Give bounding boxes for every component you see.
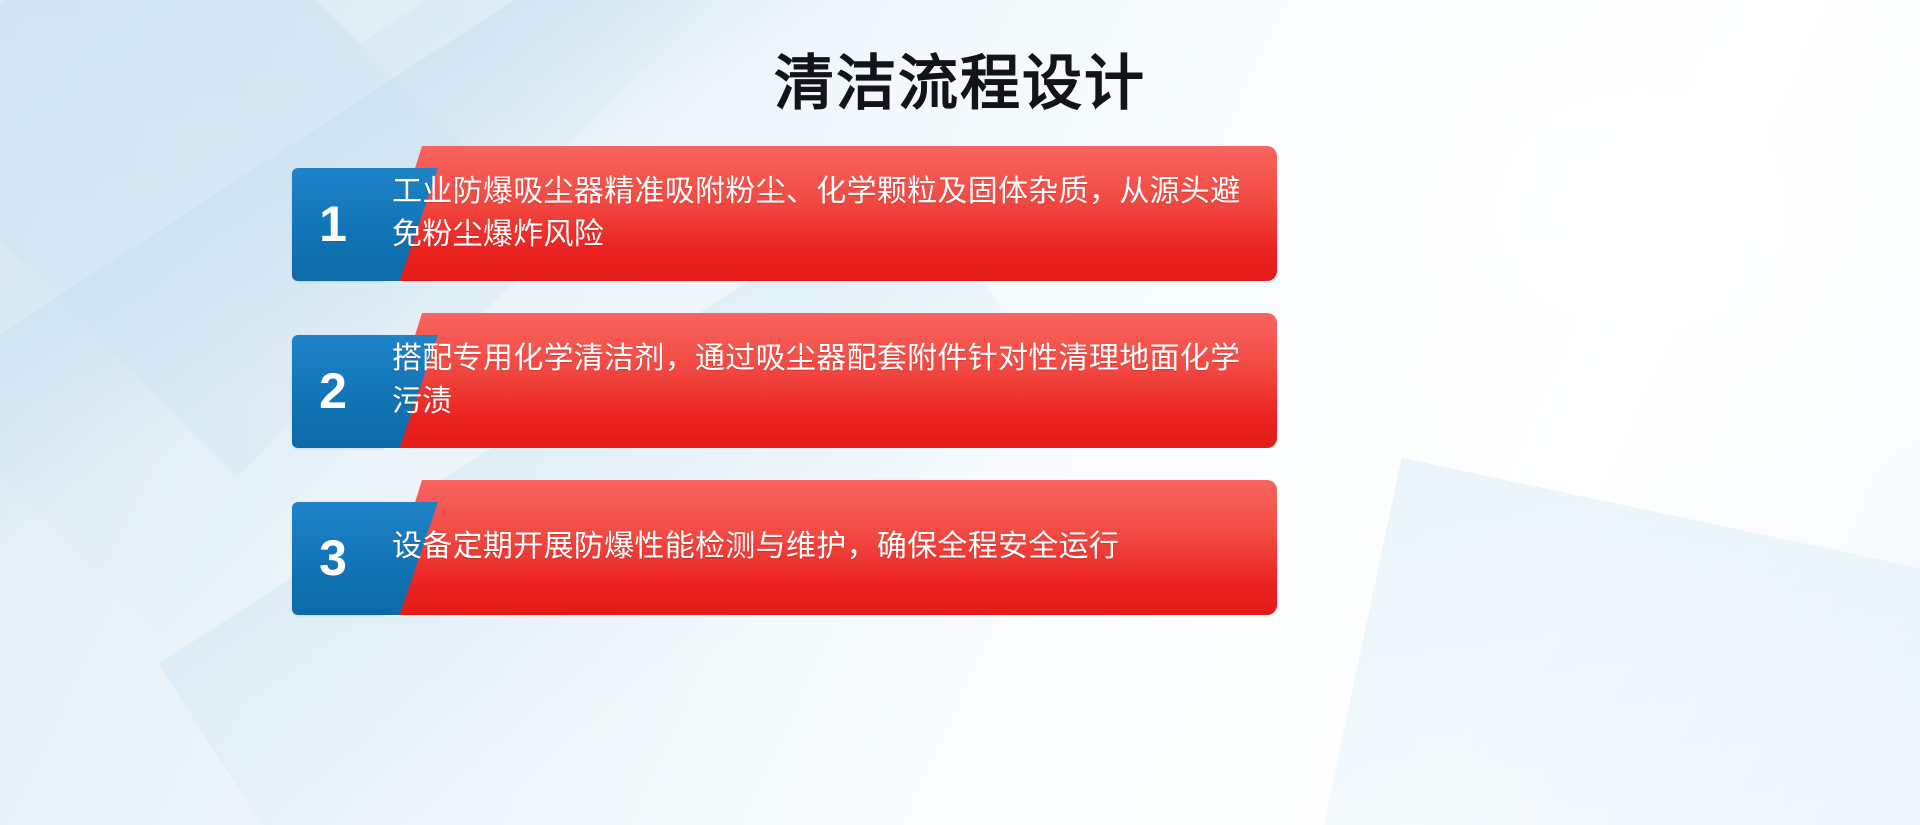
step-text-wrap: 设备定期开展防爆性能检测与维护，确保全程安全运行	[392, 480, 1257, 615]
step-item[interactable]: 1 工业防爆吸尘器精准吸附粉尘、化学颗粒及固体杂质，从源头避免粉尘爆炸风险	[292, 146, 1277, 281]
step-number-badge: 2	[292, 335, 384, 448]
step-number-label: 1	[319, 199, 347, 249]
step-number-label: 3	[319, 533, 347, 583]
step-number-badge: 1	[292, 168, 384, 281]
step-text-wrap: 工业防爆吸尘器精准吸附粉尘、化学颗粒及固体杂质，从源头避免粉尘爆炸风险	[392, 146, 1257, 281]
step-item[interactable]: 2 搭配专用化学清洁剂，通过吸尘器配套附件针对性清理地面化学污渍	[292, 313, 1277, 448]
step-item[interactable]: 3 设备定期开展防爆性能检测与维护，确保全程安全运行	[292, 480, 1277, 615]
step-description: 工业防爆吸尘器精准吸附粉尘、化学颗粒及固体杂质，从源头避免粉尘爆炸风险	[392, 171, 1257, 256]
step-number-badge: 3	[292, 502, 384, 615]
background-shape-bottom-right	[1294, 458, 1920, 825]
step-text-wrap: 搭配专用化学清洁剂，通过吸尘器配套附件针对性清理地面化学污渍	[392, 313, 1257, 448]
step-list: 1 工业防爆吸尘器精准吸附粉尘、化学颗粒及固体杂质，从源头避免粉尘爆炸风险 2 …	[292, 146, 1277, 615]
step-number-label: 2	[319, 366, 347, 416]
page-title: 清洁流程设计	[0, 52, 1920, 117]
slide-canvas: 清洁流程设计 1 工业防爆吸尘器精准吸附粉尘、化学颗粒及固体杂质，从源头避免粉尘…	[0, 0, 1920, 825]
step-description: 搭配专用化学清洁剂，通过吸尘器配套附件针对性清理地面化学污渍	[392, 338, 1257, 423]
step-description: 设备定期开展防爆性能检测与维护，确保全程安全运行	[392, 526, 1119, 569]
